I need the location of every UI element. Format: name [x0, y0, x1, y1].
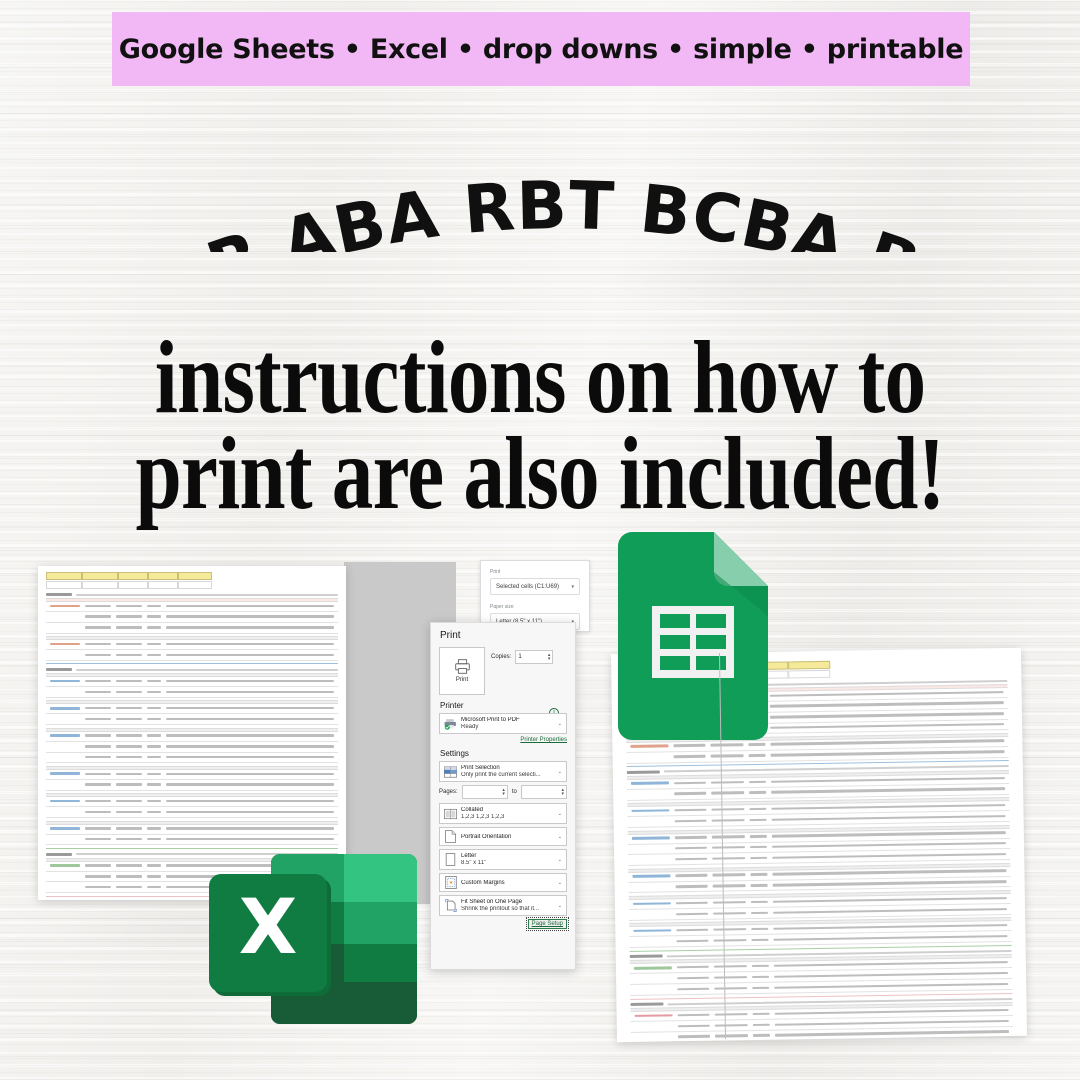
- table-cell: [166, 643, 334, 645]
- fit-page-icon: [444, 899, 457, 912]
- table-cell: [147, 680, 161, 682]
- table-cell: [774, 972, 1008, 978]
- section-heading-row: [46, 668, 338, 671]
- table-cell: [147, 626, 161, 628]
- table-cell: [715, 1024, 748, 1027]
- print-button-label: Print: [456, 677, 468, 683]
- setting-title: Portrait Orientation: [461, 834, 562, 840]
- row-label: [50, 643, 80, 646]
- copies-value: 1: [518, 654, 521, 660]
- table-cell: [774, 961, 1008, 967]
- table-cell: [116, 626, 142, 628]
- table-cell: [676, 940, 709, 943]
- data-row-group: [46, 826, 338, 845]
- column-header-band: [46, 598, 338, 602]
- table-cell: [166, 800, 334, 802]
- arched-headline: FOR ABA RBT BCBA BA: [0, 92, 1080, 252]
- table-cell: [166, 838, 334, 840]
- pages-to-label: to: [512, 789, 517, 795]
- table-cell: [166, 605, 334, 607]
- svg-text:✶: ✶: [448, 880, 453, 887]
- table-cell: [166, 654, 334, 656]
- table-cell: [714, 976, 747, 979]
- table-cell: [748, 780, 766, 783]
- table-row: [46, 826, 338, 832]
- table-cell: [85, 756, 111, 758]
- table-cell: [711, 792, 744, 795]
- table-row: [46, 733, 338, 739]
- table-header-cell: [178, 572, 212, 580]
- table-cell: [714, 965, 747, 968]
- setting-row-paper-size[interactable]: Letter 8.5" x 11" ⌄: [439, 849, 567, 870]
- table-cell: [676, 912, 709, 915]
- table-cell: [147, 827, 161, 829]
- row-label: [635, 1014, 673, 1017]
- setting-subtitle: 8.5" x 11": [461, 860, 562, 866]
- column-header-band: [46, 700, 338, 704]
- table-cell: [85, 838, 111, 840]
- setting-row-orientation[interactable]: Portrait Orientation ⌄: [439, 827, 567, 846]
- table-cell: [118, 581, 148, 589]
- data-row-group: [46, 641, 338, 660]
- table-cell: [751, 939, 769, 942]
- table-cell: [178, 581, 212, 589]
- row-label: [630, 745, 668, 748]
- table-cell: [711, 781, 744, 784]
- copies-stepper[interactable]: 1 ▴ ▾: [515, 650, 553, 664]
- setting-row-margins[interactable]: ✶ Custom Margins ⌄: [439, 873, 567, 892]
- chevron-down-icon: ⌄: [558, 811, 562, 817]
- table-cell: [46, 581, 82, 589]
- setting-row-scaling[interactable]: Fit Sheet on One Page Shrink the printou…: [439, 895, 567, 916]
- table-cell: [166, 827, 334, 829]
- table-row: [46, 755, 338, 760]
- printer-properties-link[interactable]: Printer Properties: [439, 737, 567, 743]
- table-cell: [85, 605, 111, 607]
- table-cell: [116, 680, 142, 682]
- print-button[interactable]: Print: [439, 647, 485, 695]
- table-cell: [166, 773, 334, 775]
- row-label: [50, 605, 80, 608]
- chevron-down-icon: ⌄: [558, 769, 562, 775]
- pages-range-row: Pages: ▴▾ to ▴▾: [439, 785, 567, 799]
- table-row: [46, 837, 338, 842]
- table-cell: [147, 605, 161, 607]
- setting-row-collated[interactable]: Collated 1,2,3 1,2,3 1,2,3 ⌄: [439, 803, 567, 824]
- table-cell: [166, 680, 334, 682]
- headline-line-1: instructions on how to: [108, 330, 972, 426]
- table-cell: [772, 853, 1006, 859]
- table-cell: [116, 654, 142, 656]
- google-sheets-logo: [618, 532, 768, 740]
- table-cell: [85, 718, 111, 720]
- row-label: [50, 772, 80, 775]
- data-row-group: [46, 678, 338, 697]
- table-cell: [771, 750, 1005, 756]
- table-cell: [147, 707, 161, 709]
- table-header-cell: [788, 661, 830, 670]
- printer-name: Microsoft Print to PDF: [461, 717, 562, 723]
- table-row: [46, 771, 338, 777]
- table-cell: [773, 880, 1007, 886]
- table-cell: [751, 928, 769, 931]
- table-cell: [673, 781, 706, 784]
- data-row-group: [630, 959, 1012, 995]
- table-cell: [715, 1013, 748, 1016]
- table-cell: [750, 900, 768, 903]
- table-cell: [712, 873, 745, 876]
- chevron-down-icon: ⌄: [558, 721, 562, 727]
- data-row-group: [46, 771, 338, 790]
- table-cell: [677, 1035, 710, 1038]
- table-cell: [166, 718, 334, 720]
- chevron-down-icon: ⌄: [558, 857, 562, 863]
- table-cell: [752, 986, 770, 989]
- table-cell: [675, 901, 708, 904]
- table-row: [46, 652, 338, 657]
- headline-line-2: print are also included!: [108, 426, 972, 522]
- table-cell: [147, 615, 161, 617]
- data-row-group: [46, 705, 338, 724]
- table-header-cell: [148, 572, 178, 580]
- setting-title: Print Selection: [461, 765, 562, 771]
- column-header-band: [46, 766, 338, 770]
- table-row: [46, 603, 338, 609]
- chevron-down-icon: ⌄: [558, 903, 562, 909]
- table-cell: [85, 615, 111, 617]
- table-cell: [116, 875, 142, 877]
- table-cell: [116, 615, 142, 617]
- table-cell: [116, 745, 142, 747]
- printer-icon: [454, 659, 471, 674]
- table-cell: [85, 875, 111, 877]
- row-label: [632, 836, 670, 839]
- table-cell: [116, 756, 142, 758]
- table-cell: [82, 581, 118, 589]
- table-cell: [147, 783, 161, 785]
- table-cell: [677, 1024, 710, 1027]
- table-cell: [85, 827, 111, 829]
- table-row: [46, 782, 338, 787]
- table-cell: [772, 831, 1006, 837]
- table-cell: [116, 838, 142, 840]
- table-cell: [85, 864, 111, 866]
- table-cell: [148, 581, 178, 589]
- table-cell: [147, 643, 161, 645]
- table-cell: [770, 691, 1004, 697]
- table-cell: [147, 886, 161, 888]
- pages-from-input[interactable]: ▴▾: [462, 785, 508, 799]
- table-cell: [752, 976, 770, 979]
- setting-title: Fit Sheet on One Page: [461, 899, 562, 905]
- setting-row-print-selection[interactable]: Print Selection Only print the current s…: [439, 761, 567, 782]
- table-cell: [147, 838, 161, 840]
- table-cell: [85, 783, 111, 785]
- table-cell: [713, 928, 746, 931]
- data-row-group: [628, 830, 1010, 866]
- table-cell: [713, 901, 746, 904]
- table-header-cell: [118, 572, 148, 580]
- table-cell: [674, 792, 707, 795]
- table-cell: [147, 800, 161, 802]
- table-cell: [147, 756, 161, 758]
- table-cell: [775, 1020, 1009, 1026]
- stepper-arrows-icon: ▴ ▾: [548, 653, 551, 661]
- table-cell: [750, 873, 768, 876]
- table-cell: [674, 809, 707, 812]
- table-cell: [675, 858, 708, 861]
- table-row: [46, 625, 338, 630]
- print-dialog-title: Print: [440, 630, 567, 641]
- table-cell: [85, 691, 111, 693]
- stepper-arrows-icon: ▴▾: [562, 788, 565, 796]
- selection-grid-icon: [444, 765, 457, 778]
- chevron-down-icon: ⌄: [558, 880, 562, 886]
- table-cell: [85, 626, 111, 628]
- table-cell: [116, 864, 142, 866]
- table-cell: [713, 912, 746, 915]
- table-cell: [116, 605, 142, 607]
- table-cell: [85, 734, 111, 736]
- table-cell: [771, 787, 1005, 793]
- table-cell: [712, 857, 745, 860]
- table-cell: [116, 827, 142, 829]
- row-label: [50, 827, 80, 830]
- table-cell: [749, 819, 767, 822]
- table-cell: [712, 846, 745, 849]
- table-cell: [771, 777, 1005, 783]
- table-cell: [715, 1035, 748, 1038]
- table-row: [46, 614, 338, 619]
- table-row: [46, 678, 338, 684]
- table-cell: [166, 745, 334, 747]
- table-cell: [674, 819, 707, 822]
- windows-print-dialog: Print Print Copies: 1 ▴ ▾: [430, 622, 576, 970]
- table-cell: [166, 626, 334, 628]
- row-label: [50, 864, 80, 867]
- table-cell: [711, 755, 744, 758]
- table-cell: [752, 1013, 770, 1016]
- gs-print-label: Print: [490, 569, 580, 575]
- table-cell: [774, 983, 1008, 989]
- table-cell: [116, 707, 142, 709]
- table-cell: [748, 743, 766, 746]
- table-cell: [147, 734, 161, 736]
- table-cell: [770, 712, 1004, 718]
- table-cell: [788, 670, 830, 679]
- margins-icon: ✶: [444, 876, 457, 889]
- table-cell: [770, 740, 1004, 746]
- table-cell: [712, 835, 745, 838]
- table-cell: [677, 1014, 710, 1017]
- summary-table: [46, 572, 338, 589]
- table-cell: [772, 869, 1006, 875]
- arched-headline-text: FOR ABA RBT BCBA BA: [0, 92, 930, 252]
- table-cell: [775, 1030, 1009, 1036]
- table-cell: [675, 874, 708, 877]
- table-cell: [166, 811, 334, 813]
- table-cell: [710, 744, 743, 747]
- setting-subtitle: Only print the current selecti...: [461, 772, 562, 778]
- setting-subtitle: Shrink the printout so that it...: [461, 906, 562, 912]
- row-label: [50, 800, 80, 803]
- table-cell: [770, 723, 1004, 729]
- table-cell: [771, 804, 1005, 810]
- gs-print-range-value: Selected cells (C1:U69): [496, 584, 559, 590]
- table-cell: [675, 847, 708, 850]
- table-cell: [166, 691, 334, 693]
- table-cell: [752, 1023, 770, 1026]
- table-row: [46, 641, 338, 647]
- page-setup-link[interactable]: Page Setup: [528, 919, 567, 929]
- data-row-group: [46, 798, 338, 817]
- table-cell: [676, 966, 709, 969]
- table-cell: [147, 811, 161, 813]
- table-cell: [773, 924, 1007, 930]
- row-label: [631, 782, 669, 785]
- pages-label: Pages:: [439, 789, 458, 795]
- row-label: [633, 929, 671, 932]
- table-cell: [116, 886, 142, 888]
- promo-banner: Google Sheets • Excel • drop downs • sim…: [112, 12, 970, 86]
- table-cell: [116, 811, 142, 813]
- row-label: [50, 707, 80, 710]
- stepper-arrows-icon: ▴▾: [502, 788, 505, 796]
- table-row: [46, 705, 338, 711]
- table-cell: [673, 744, 706, 747]
- row-label: [634, 966, 672, 969]
- table-cell: [773, 897, 1007, 903]
- table-cell: [85, 773, 111, 775]
- table-row: [46, 798, 338, 804]
- table-cell: [677, 987, 710, 990]
- printer-select[interactable]: Microsoft Print to PDF Ready ⌄: [439, 713, 567, 734]
- table-cell: [116, 783, 142, 785]
- column-header-band: [46, 636, 338, 640]
- setting-title: Collated: [461, 807, 562, 813]
- table-header-cell: [46, 572, 82, 580]
- table-cell: [748, 754, 766, 757]
- column-header-band: [46, 793, 338, 797]
- table-cell: [752, 1034, 770, 1037]
- table-cell: [712, 819, 745, 822]
- row-label: [50, 734, 80, 737]
- table-cell: [147, 654, 161, 656]
- table-cell: [750, 846, 768, 849]
- table-cell: [166, 783, 334, 785]
- table-cell: [85, 886, 111, 888]
- setting-title: Letter: [461, 853, 562, 859]
- table-cell: [147, 864, 161, 866]
- table-cell: [673, 755, 706, 758]
- table-cell: [772, 815, 1006, 821]
- svg-text:X: X: [239, 882, 298, 971]
- row-label: [633, 902, 671, 905]
- printer-status: Ready: [461, 724, 562, 730]
- table-cell: [675, 885, 708, 888]
- pages-to-input[interactable]: ▴▾: [521, 785, 567, 799]
- paper-size-icon: [444, 853, 457, 866]
- table-cell: [713, 884, 746, 887]
- printer-device-icon: [444, 717, 457, 730]
- table-row: [46, 809, 338, 814]
- table-cell: [85, 707, 111, 709]
- table-cell: [166, 707, 334, 709]
- table-cell: [166, 734, 334, 736]
- table-cell: [116, 643, 142, 645]
- table-cell: [773, 935, 1007, 941]
- table-cell: [147, 718, 161, 720]
- table-cell: [711, 808, 744, 811]
- table-cell: [750, 884, 768, 887]
- gs-print-range-select[interactable]: Selected cells (C1:U69) ▾: [490, 578, 580, 595]
- table-cell: [749, 791, 767, 794]
- row-label: [631, 809, 669, 812]
- chevron-down-icon: ⌄: [558, 834, 562, 840]
- table-cell: [116, 718, 142, 720]
- data-row-group: [46, 603, 338, 633]
- table-row: [46, 716, 338, 721]
- settings-section-heading: Settings: [440, 749, 567, 758]
- table-header-cell: [82, 572, 118, 580]
- table-cell: [147, 745, 161, 747]
- table-cell: [85, 680, 111, 682]
- table-cell: [749, 835, 767, 838]
- microsoft-excel-logo: X: [205, 848, 423, 1030]
- table-cell: [116, 800, 142, 802]
- column-header-band: [46, 673, 338, 677]
- table-cell: [166, 615, 334, 617]
- table-cell: [775, 1009, 1009, 1015]
- row-label: [50, 680, 80, 683]
- portrait-page-icon: [444, 830, 457, 843]
- table-cell: [85, 654, 111, 656]
- table-row: [46, 689, 338, 694]
- data-row-group: [631, 1007, 1013, 1042]
- table-cell: [116, 691, 142, 693]
- table-cell: [116, 773, 142, 775]
- copies-label: Copies:: [491, 654, 511, 660]
- table-cell: [750, 857, 768, 860]
- chevron-down-icon: ▾: [571, 584, 574, 590]
- section-heading-row: [46, 593, 338, 596]
- table-cell: [166, 756, 334, 758]
- printer-section-heading: Printer: [440, 701, 567, 710]
- gs-paper-size-label: Paper size: [490, 604, 580, 610]
- table-cell: [116, 734, 142, 736]
- table-cell: [773, 908, 1007, 914]
- page-headline: instructions on how to print are also in…: [108, 330, 972, 521]
- table-cell: [749, 808, 767, 811]
- table-cell: [751, 911, 769, 914]
- table-cell: [713, 939, 746, 942]
- table-cell: [85, 811, 111, 813]
- table-cell: [147, 875, 161, 877]
- promo-banner-text: Google Sheets • Excel • drop downs • sim…: [119, 34, 964, 65]
- table-cell: [674, 836, 707, 839]
- column-header-band: [46, 728, 338, 732]
- table-cell: [677, 977, 710, 980]
- table-row: [46, 744, 338, 749]
- table-cell: [85, 643, 111, 645]
- table-cell: [85, 800, 111, 802]
- table-cell: [770, 702, 1004, 708]
- table-cell: [772, 842, 1006, 848]
- column-header-band: [46, 821, 338, 825]
- table-cell: [714, 987, 747, 990]
- table-cell: [147, 773, 161, 775]
- row-label: [632, 875, 670, 878]
